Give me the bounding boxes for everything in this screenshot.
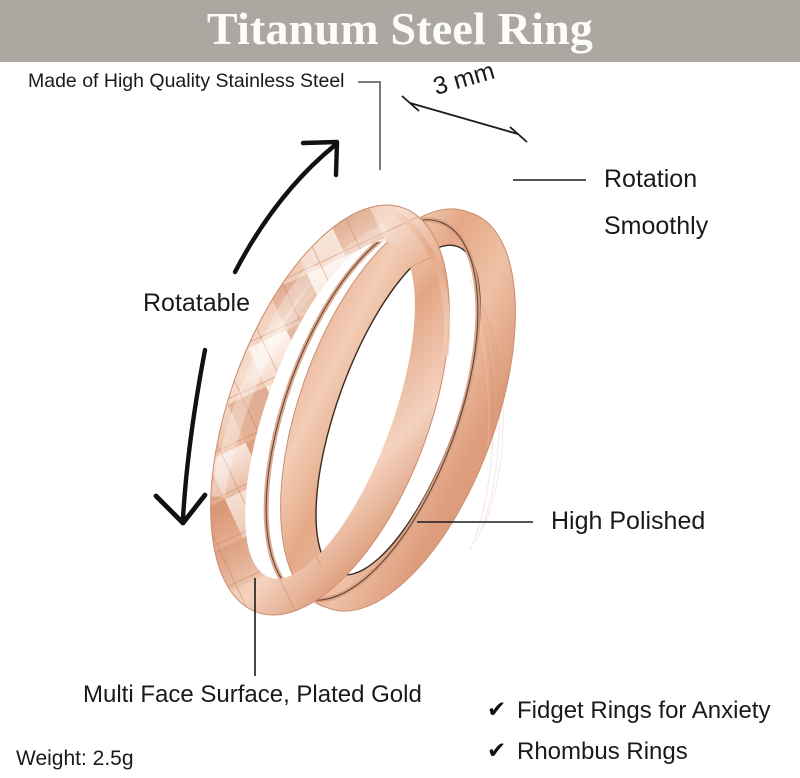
feature-list: ✔ Fidget Rings for Anxiety ✔ Rhombus Rin… (487, 690, 797, 772)
product-image-ring (170, 110, 570, 680)
annotation-stainless-steel: Made of High Quality Stainless Steel (28, 70, 345, 93)
check-icon: ✔ (487, 699, 517, 722)
annotation-rotation-line2: Smoothly (604, 212, 708, 241)
annotation-high-polished: High Polished (551, 507, 705, 536)
list-item: ✔ Rhombus Rings (487, 731, 797, 772)
annotation-weight: Weight: 2.5g (16, 747, 134, 771)
feature-label: Rhombus Rings (517, 738, 688, 766)
annotation-rotatable: Rotatable (143, 289, 250, 318)
feature-label: Fidget Rings for Anxiety (517, 697, 770, 725)
page-title: Titanum Steel Ring (0, 0, 800, 62)
list-item: ✔ Fidget Rings for Anxiety (487, 690, 797, 731)
annotation-rotation-line1: Rotation (604, 165, 697, 194)
product-infographic: Titanum Steel Ring (0, 0, 800, 778)
annotation-multi-face-surface: Multi Face Surface, Plated Gold (83, 681, 422, 709)
check-icon: ✔ (487, 740, 517, 763)
annotation-width-3mm: 3 mm (430, 57, 498, 102)
